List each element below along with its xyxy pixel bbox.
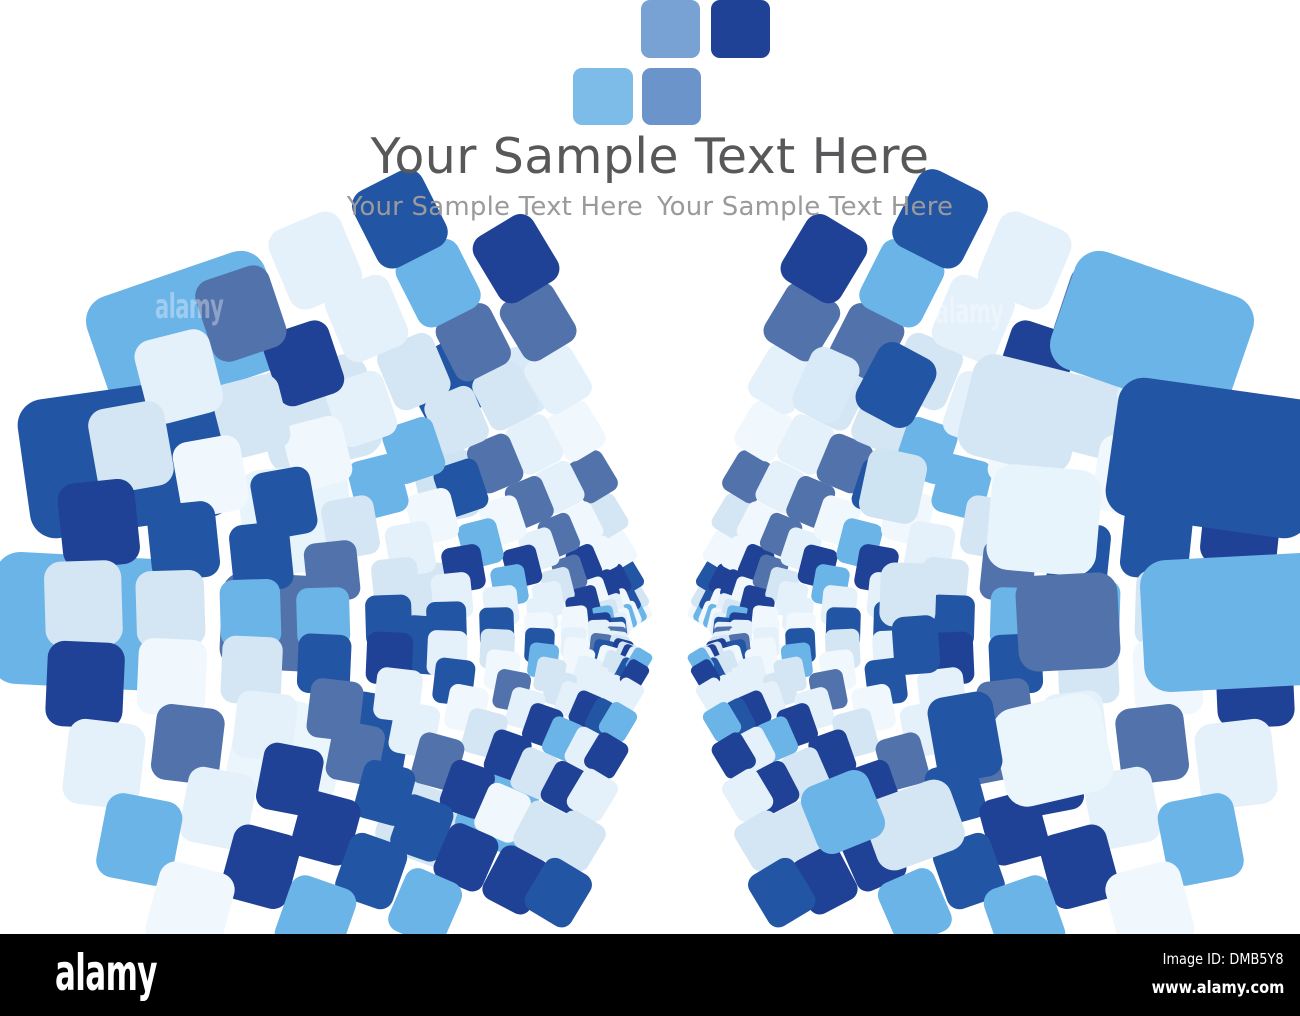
alamy-website-text: www.alamy.com (1151, 978, 1284, 998)
mosaic-tile (45, 640, 126, 729)
subtitle-gap (643, 194, 657, 221)
logo-square-top-left (641, 0, 700, 58)
mosaic-logo (0, 0, 1300, 130)
tile-r6 (1015, 571, 1122, 672)
page-subtitle: Your Sample Text Here Your Sample Text H… (0, 194, 1300, 221)
subtitle-right-text: Your Sample Text Here (657, 194, 953, 221)
tile-r3 (1139, 551, 1300, 694)
alamy-logo: alamy (55, 948, 157, 998)
mosaic-tile (135, 570, 206, 648)
tile-r2 (1102, 374, 1300, 541)
logo-square-bottom-left (573, 68, 633, 125)
logo-square-top-right (711, 0, 770, 58)
subtitle-left-text: Your Sample Text Here (347, 194, 643, 221)
tile-r15 (891, 614, 941, 675)
mosaic-tile (56, 477, 142, 570)
logo-square-bottom-right (642, 68, 701, 125)
artwork-canvas: Your Sample Text Here Your Sample Text H… (0, 0, 1300, 934)
mosaic-tile (44, 560, 124, 648)
mosaic-tile (146, 500, 222, 583)
alamy-watermark-bar: alamy Image ID: DMB5Y8 www.alamy.com (0, 934, 1300, 1016)
tile-r5 (985, 462, 1104, 577)
page-title: Your Sample Text Here (0, 131, 1300, 182)
image-id-value: DMB5Y8 (1230, 950, 1284, 968)
image-id-text: Image ID: DMB5Y8 (1163, 950, 1284, 968)
image-id-label: Image ID: (1163, 950, 1226, 968)
